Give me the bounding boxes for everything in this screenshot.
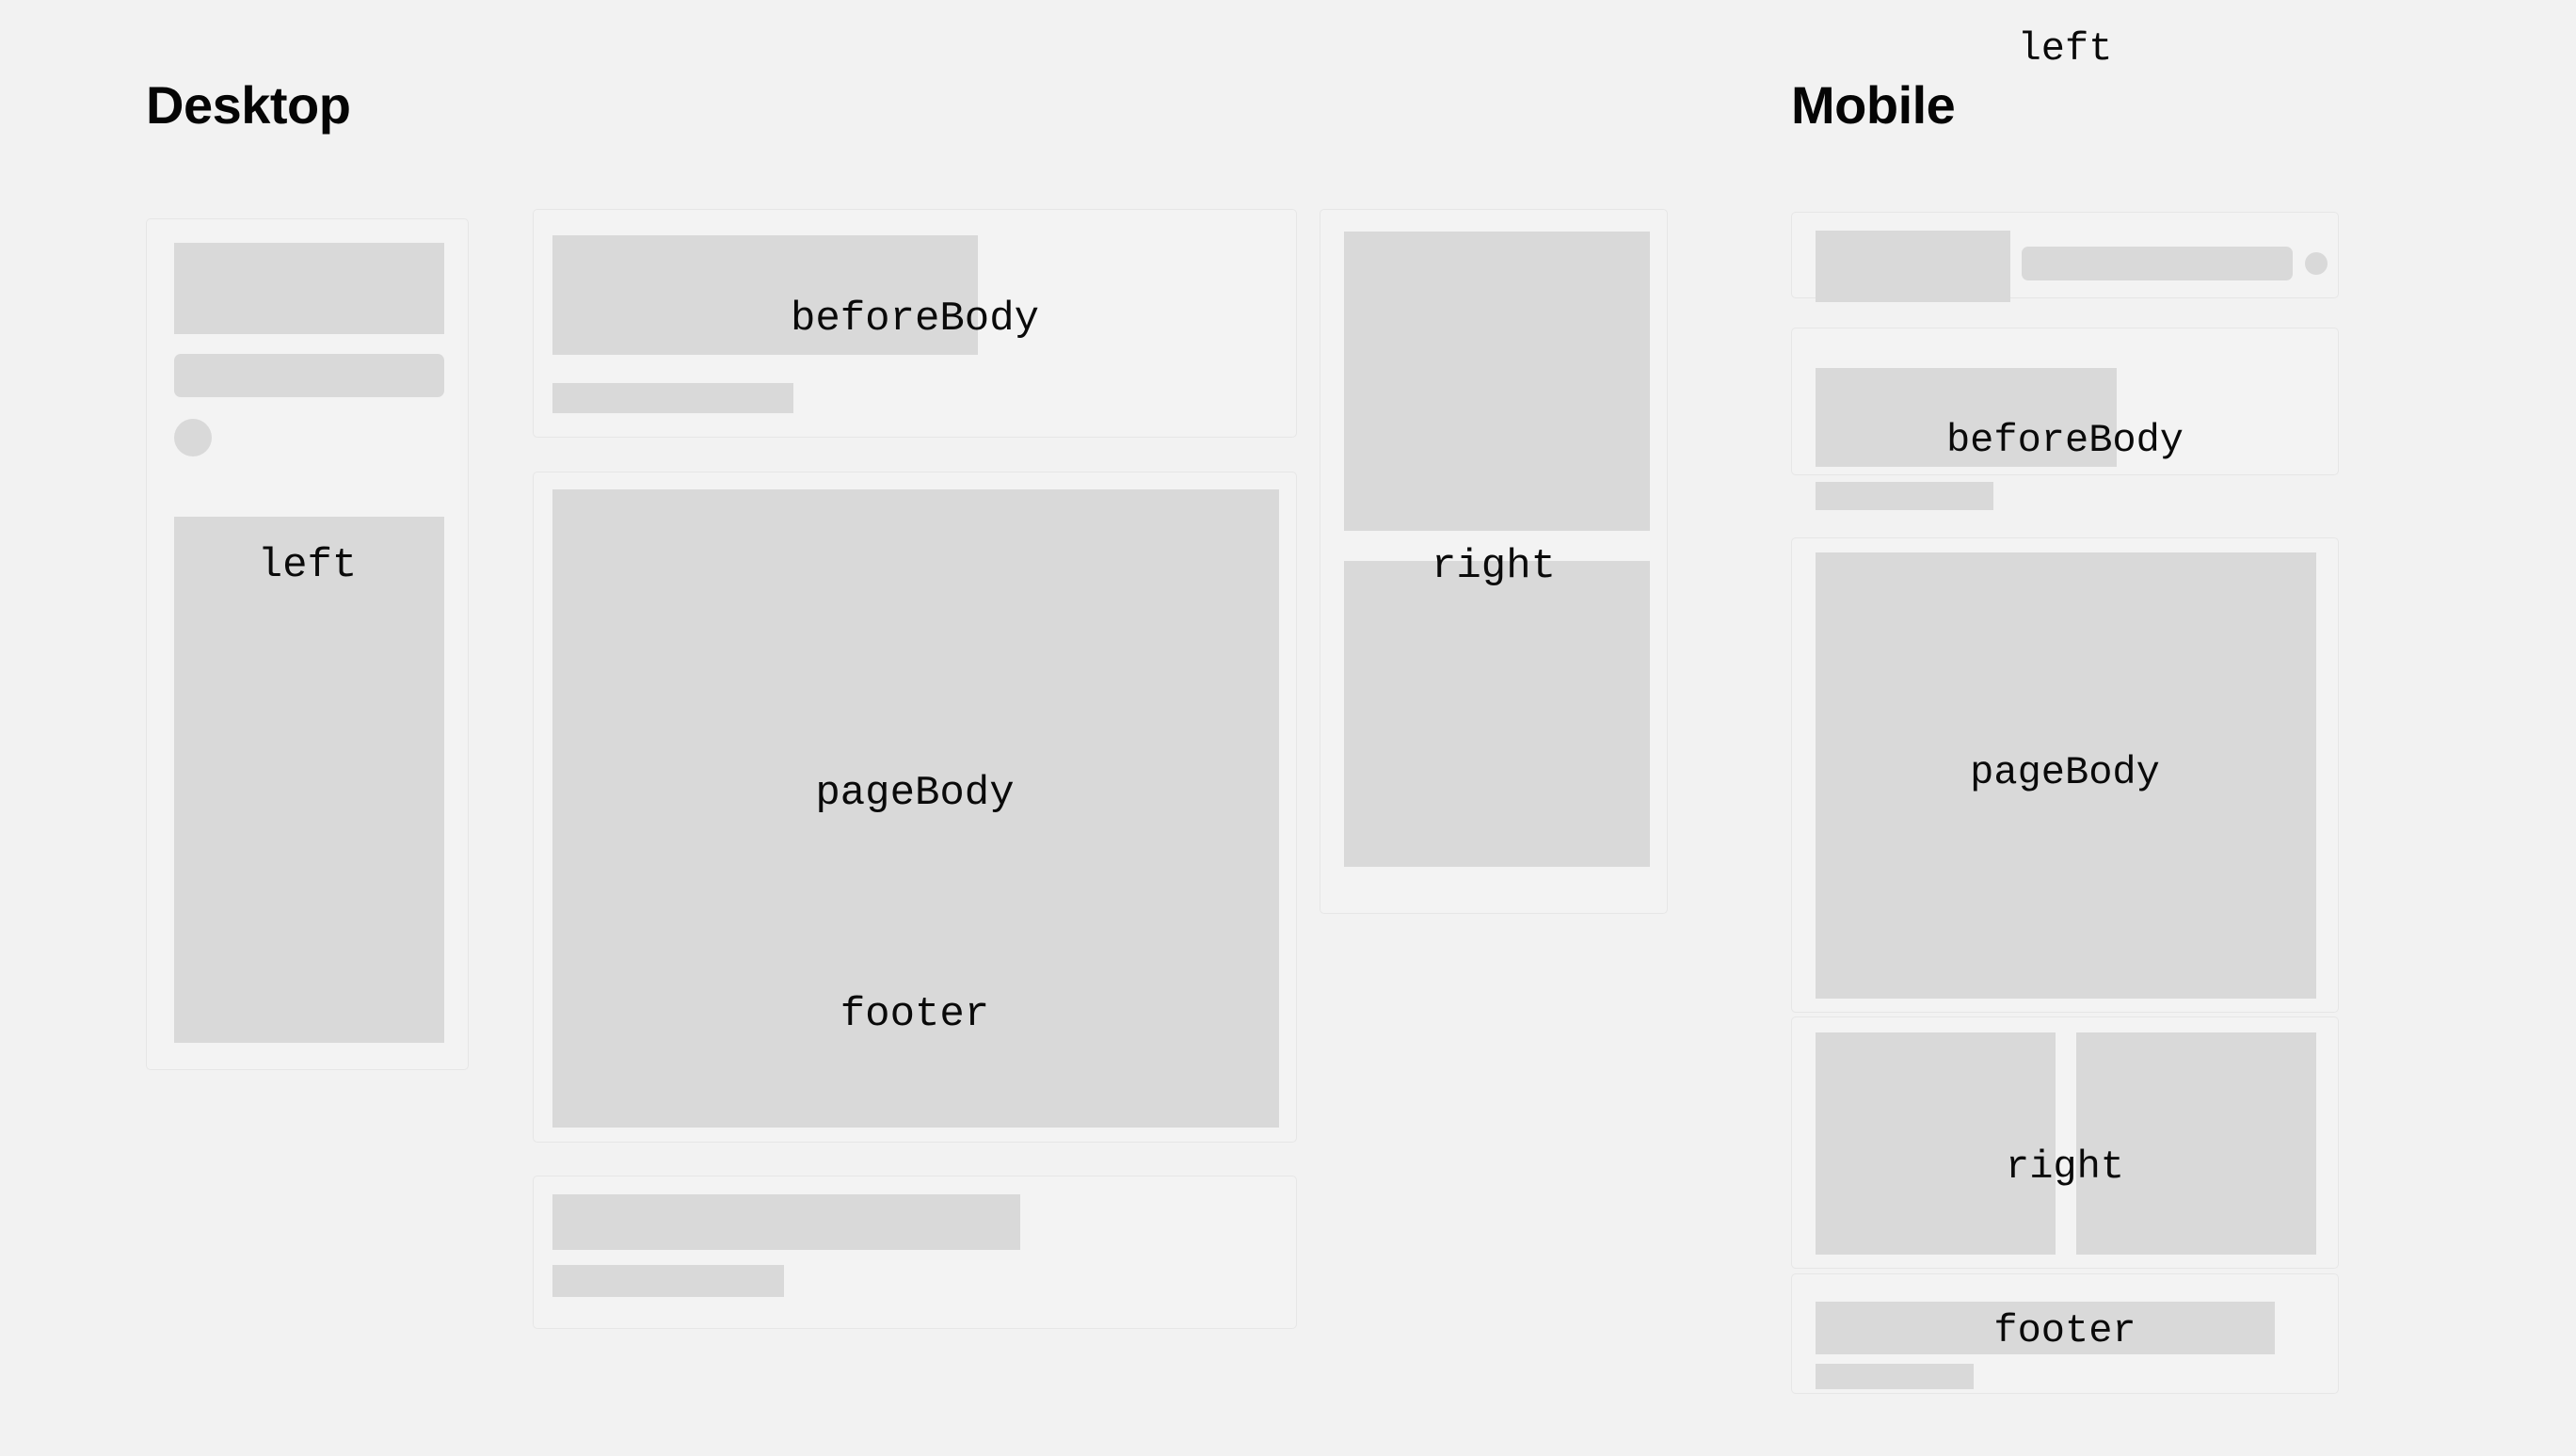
mobile-page-body-region-label: pageBody: [1791, 753, 2339, 792]
footer-skeleton-block-large: [552, 1194, 1020, 1250]
left-skeleton-block-1: [174, 243, 444, 334]
right-skeleton-block-1: [1344, 232, 1650, 531]
left-skeleton-block-2: [174, 517, 444, 1043]
desktop-footer-panel[interactable]: [533, 1176, 1297, 1329]
mobile-footer-skeleton-block-small: [1816, 1364, 1974, 1389]
right-skeleton-block-2: [1344, 561, 1650, 867]
mobile-before-body-region-label: beforeBody: [1791, 421, 2339, 460]
desktop-section-title: Desktop: [146, 79, 350, 132]
mobile-right-region-label: right: [1791, 1147, 2339, 1187]
mobile-left-panel[interactable]: [1791, 212, 2339, 298]
footer-skeleton-block-small: [552, 1265, 784, 1297]
mobile-footer-region-label: footer: [1791, 1311, 2339, 1351]
desktop-before-body-region-label: beforeBody: [533, 298, 1297, 340]
mobile-right-panel[interactable]: [1791, 1016, 2339, 1269]
desktop-footer-region-label: footer: [533, 994, 1297, 1035]
mobile-left-skeleton-block: [1816, 231, 2010, 302]
desktop-left-region-label: left: [146, 545, 469, 586]
desktop-page-body-region-label: pageBody: [533, 773, 1297, 814]
mobile-before-body-skeleton-block-small: [1816, 482, 1993, 510]
mobile-section-title: Mobile: [1791, 79, 1955, 132]
mobile-right-skeleton-block-right: [2076, 1032, 2316, 1255]
left-skeleton-avatar: [174, 419, 212, 456]
mobile-right-skeleton-block-left: [1816, 1032, 2056, 1255]
left-skeleton-pill: [174, 354, 444, 397]
desktop-right-region-label: right: [1320, 546, 1668, 587]
before-body-skeleton-block-small: [552, 383, 793, 413]
mobile-left-region-label: left: [1791, 29, 2339, 69]
desktop-left-panel[interactable]: [146, 218, 469, 1070]
mobile-left-skeleton-pill: [2022, 247, 2293, 280]
mobile-left-skeleton-avatar: [2305, 252, 2328, 275]
